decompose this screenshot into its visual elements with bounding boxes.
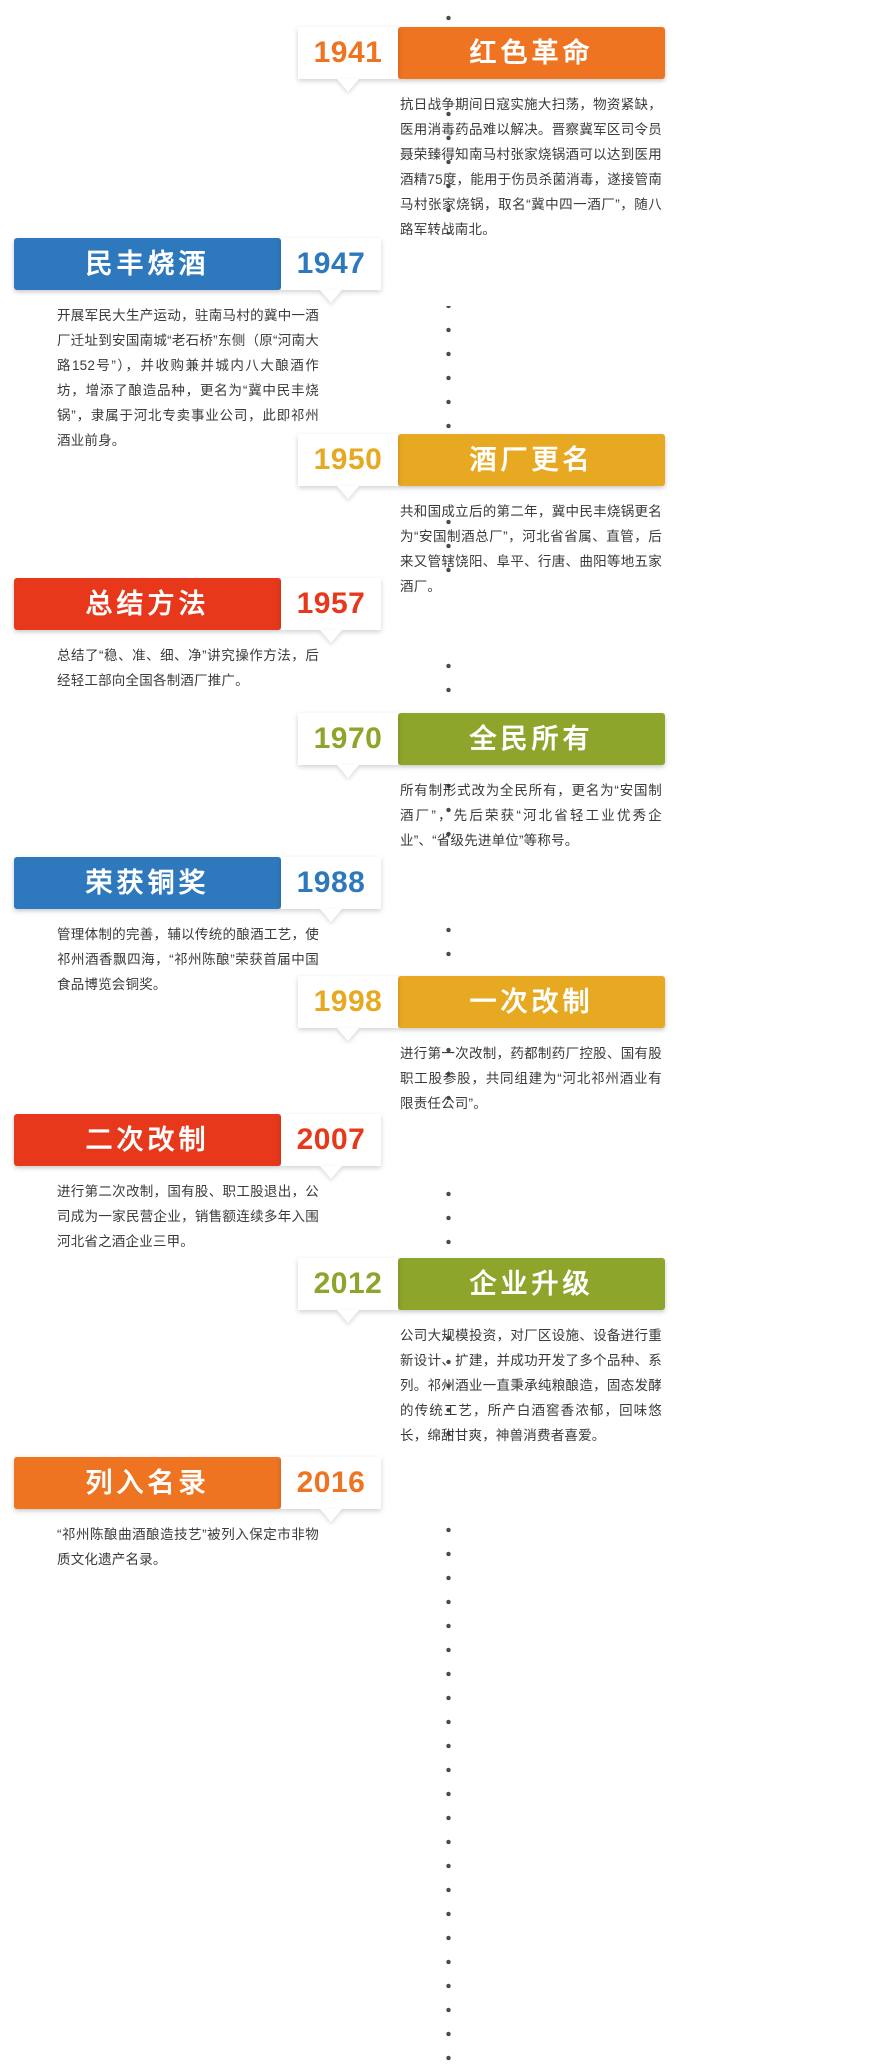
entry-body-text-2007: 进行第二次改制，国有股、职工股退出，公司成为一家民营企业，销售额连续多年入围河北… bbox=[57, 1179, 319, 1254]
entry-title-bar-1970: 全民所有 bbox=[398, 713, 665, 765]
entry-header-1970: 1970全民所有 bbox=[298, 713, 665, 765]
year-label: 2012 bbox=[314, 1269, 383, 1299]
entry-title-label: 总结方法 bbox=[86, 591, 210, 618]
entry-body-text-1950: 共和国成立后的第二年，冀中民丰烧锅更名为“安国制酒总厂”，河北省省属、直管，后来… bbox=[400, 499, 662, 599]
entry-title-bar-1988: 荣获铜奖 bbox=[14, 857, 281, 909]
entry-body-text-1998: 进行第一次改制，药都制药厂控股、国有股职工股参股，共同组建为“河北祁州酒业有限责… bbox=[400, 1041, 662, 1116]
year-label: 1947 bbox=[297, 249, 366, 279]
year-badge-2016: 2016 bbox=[281, 1457, 381, 1509]
entry-title-label: 民丰烧酒 bbox=[86, 251, 210, 278]
year-label: 1970 bbox=[314, 724, 383, 754]
entry-body-text-1988: 管理体制的完善，辅以传统的酿酒工艺，使祁州酒香飘四海，“祁州陈酿”荣获首届中国食… bbox=[57, 922, 319, 997]
year-badge-pointer-icon bbox=[320, 1509, 342, 1522]
entry-title-bar-2007: 二次改制 bbox=[14, 1114, 281, 1166]
entry-header-2012: 2012企业升级 bbox=[298, 1258, 665, 1310]
entry-title-bar-1957: 总结方法 bbox=[14, 578, 281, 630]
year-badge-pointer-icon bbox=[320, 909, 342, 922]
year-badge-pointer-icon bbox=[320, 1166, 342, 1179]
year-badge-1957: 1957 bbox=[281, 578, 381, 630]
entry-title-bar-1998: 一次改制 bbox=[398, 976, 665, 1028]
timeline-infographic: 1941红色革命抗日战争期间日寇实施大扫荡，物资紧缺，医用消毒药品难以解决。晋察… bbox=[0, 0, 887, 2069]
entry-title-label: 全民所有 bbox=[470, 726, 594, 753]
entry-header-1988: 1988荣获铜奖 bbox=[14, 857, 381, 909]
entry-title-label: 列入名录 bbox=[86, 1470, 210, 1497]
year-badge-1988: 1988 bbox=[281, 857, 381, 909]
entry-header-1998: 1998一次改制 bbox=[298, 976, 665, 1028]
entry-title-label: 二次改制 bbox=[86, 1127, 210, 1154]
entry-title-label: 荣获铜奖 bbox=[86, 870, 210, 897]
year-badge-1970: 1970 bbox=[298, 713, 398, 765]
entry-title-label: 企业升级 bbox=[470, 1271, 594, 1298]
entry-header-1957: 1957总结方法 bbox=[14, 578, 381, 630]
entry-title-bar-2012: 企业升级 bbox=[398, 1258, 665, 1310]
year-badge-pointer-icon bbox=[320, 290, 342, 303]
spine-mask bbox=[438, 1453, 460, 1525]
entry-title-bar-2016: 列入名录 bbox=[14, 1457, 281, 1509]
entry-title-label: 红色革命 bbox=[470, 40, 594, 67]
year-badge-pointer-icon bbox=[337, 79, 359, 92]
spine-mask bbox=[438, 853, 460, 925]
year-badge-pointer-icon bbox=[320, 630, 342, 643]
year-label: 1957 bbox=[297, 589, 366, 619]
year-badge-pointer-icon bbox=[337, 1310, 359, 1323]
entry-title-label: 一次改制 bbox=[470, 989, 594, 1016]
entry-title-bar-1941: 红色革命 bbox=[398, 27, 665, 79]
entry-title-bar-1947: 民丰烧酒 bbox=[14, 238, 281, 290]
year-badge-1941: 1941 bbox=[298, 27, 398, 79]
year-label: 1941 bbox=[314, 38, 383, 68]
year-badge-pointer-icon bbox=[337, 765, 359, 778]
entry-body-text-1957: 总结了“稳、准、细、净”讲究操作方法，后经轻工部向全国各制酒厂推广。 bbox=[57, 643, 319, 693]
year-label: 2016 bbox=[297, 1468, 366, 1498]
year-label: 1950 bbox=[314, 445, 383, 475]
year-label: 2007 bbox=[297, 1125, 366, 1155]
year-badge-pointer-icon bbox=[337, 486, 359, 499]
entry-header-1950: 1950酒厂更名 bbox=[298, 434, 665, 486]
entry-header-1941: 1941红色革命 bbox=[298, 27, 665, 79]
entry-body-text-1947: 开展军民大生产运动，驻南马村的冀中一酒厂迁址到安国南城“老石桥”东侧（原“河南大… bbox=[57, 303, 319, 453]
year-badge-pointer-icon bbox=[337, 1028, 359, 1041]
entry-body-text-1941: 抗日战争期间日寇实施大扫荡，物资紧缺，医用消毒药品难以解决。晋察冀军区司令员聂荣… bbox=[400, 92, 662, 242]
entry-title-label: 酒厂更名 bbox=[470, 447, 594, 474]
spine-mask bbox=[438, 234, 460, 306]
entry-body-text-1970: 所有制形式改为全民所有，更名为“安国制酒厂”，先后荣获“河北省轻工业优秀企业”、… bbox=[400, 778, 662, 853]
year-badge-2007: 2007 bbox=[281, 1114, 381, 1166]
entry-body-text-2012: 公司大规模投资，对厂区设施、设备进行重新设计、扩建，并成功开发了多个品种、系列。… bbox=[400, 1323, 662, 1448]
entry-header-1947: 1947民丰烧酒 bbox=[14, 238, 381, 290]
year-badge-1947: 1947 bbox=[281, 238, 381, 290]
year-badge-2012: 2012 bbox=[298, 1258, 398, 1310]
entry-body-text-2016: “祁州陈酿曲酒酿造技艺”被列入保定市非物质文化遗产名录。 bbox=[57, 1522, 319, 1572]
year-label: 1998 bbox=[314, 987, 383, 1017]
year-badge-1950: 1950 bbox=[298, 434, 398, 486]
year-badge-1998: 1998 bbox=[298, 976, 398, 1028]
year-label: 1988 bbox=[297, 868, 366, 898]
entry-header-2016: 2016列入名录 bbox=[14, 1457, 381, 1509]
spine-mask bbox=[438, 1110, 460, 1182]
entry-title-bar-1950: 酒厂更名 bbox=[398, 434, 665, 486]
entry-header-2007: 2007二次改制 bbox=[14, 1114, 381, 1166]
